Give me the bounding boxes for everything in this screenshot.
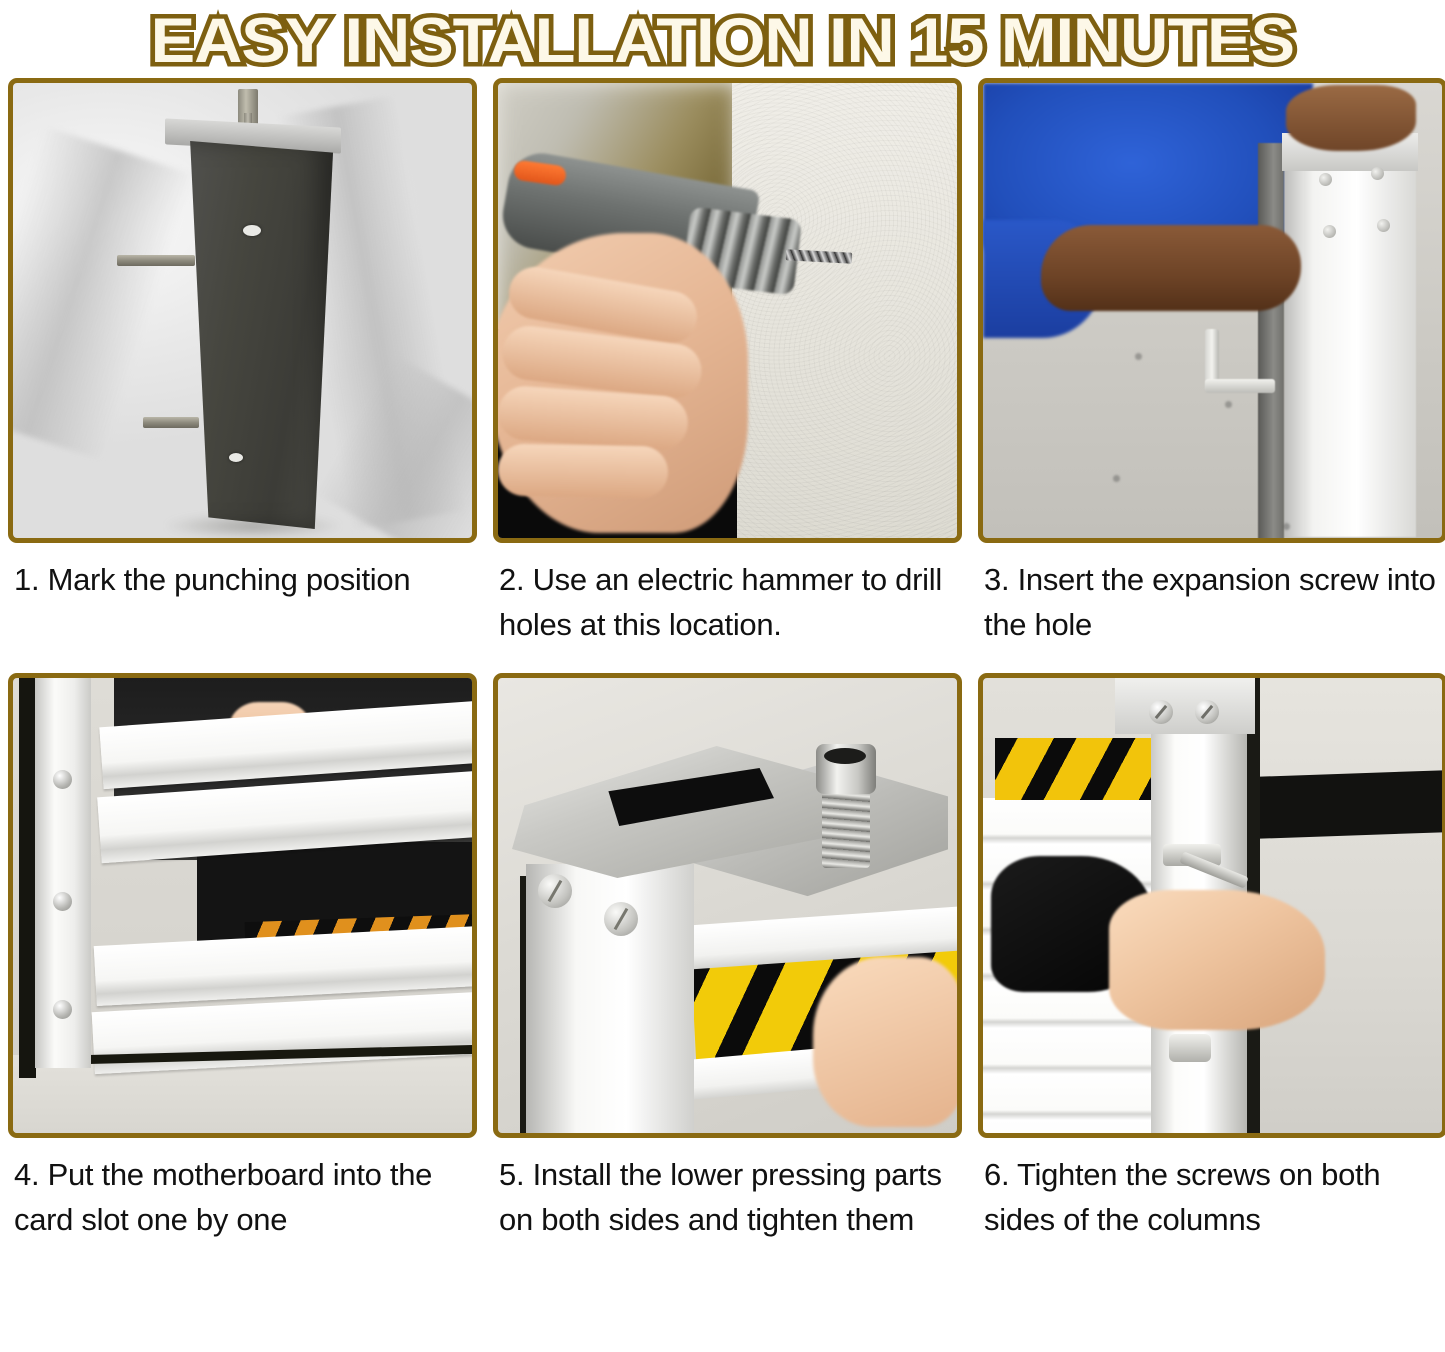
- step-image-6: [978, 673, 1445, 1138]
- step-card-3: 3. Insert the expansion screw into the h…: [978, 78, 1445, 647]
- step-card-5: 5. Install the lower pressing parts on b…: [493, 673, 962, 1242]
- steps-row-top: 1. Mark the punching position 2. Use an …: [8, 78, 1437, 647]
- page-header: EASY INSTALLATION IN 15 MINUTES: [0, 0, 1445, 78]
- step-image-3: [978, 78, 1445, 543]
- step-caption-3: 3. Insert the expansion screw into the h…: [978, 543, 1445, 647]
- step-caption-2: 2. Use an electric hammer to drill holes…: [493, 543, 962, 647]
- steps-row-bottom: 4. Put the motherboard into the card slo…: [8, 673, 1437, 1242]
- step-image-1: [8, 78, 477, 543]
- step-card-1: 1. Mark the punching position: [8, 78, 477, 602]
- page-title: EASY INSTALLATION IN 15 MINUTES: [151, 8, 1294, 74]
- step-caption-6: 6. Tighten the screws on both sides of t…: [978, 1138, 1445, 1242]
- step-card-2: 2. Use an electric hammer to drill holes…: [493, 78, 962, 647]
- steps-grid: 1. Mark the punching position 2. Use an …: [0, 78, 1445, 1242]
- step-card-4: 4. Put the motherboard into the card slo…: [8, 673, 477, 1242]
- step-image-2: [493, 78, 962, 543]
- step-card-6: 6. Tighten the screws on both sides of t…: [978, 673, 1445, 1242]
- step-caption-5: 5. Install the lower pressing parts on b…: [493, 1138, 962, 1242]
- step-image-4: [8, 673, 477, 1138]
- step-caption-1: 1. Mark the punching position: [8, 543, 477, 602]
- step-caption-4: 4. Put the motherboard into the card slo…: [8, 1138, 477, 1242]
- step-image-5: [493, 673, 962, 1138]
